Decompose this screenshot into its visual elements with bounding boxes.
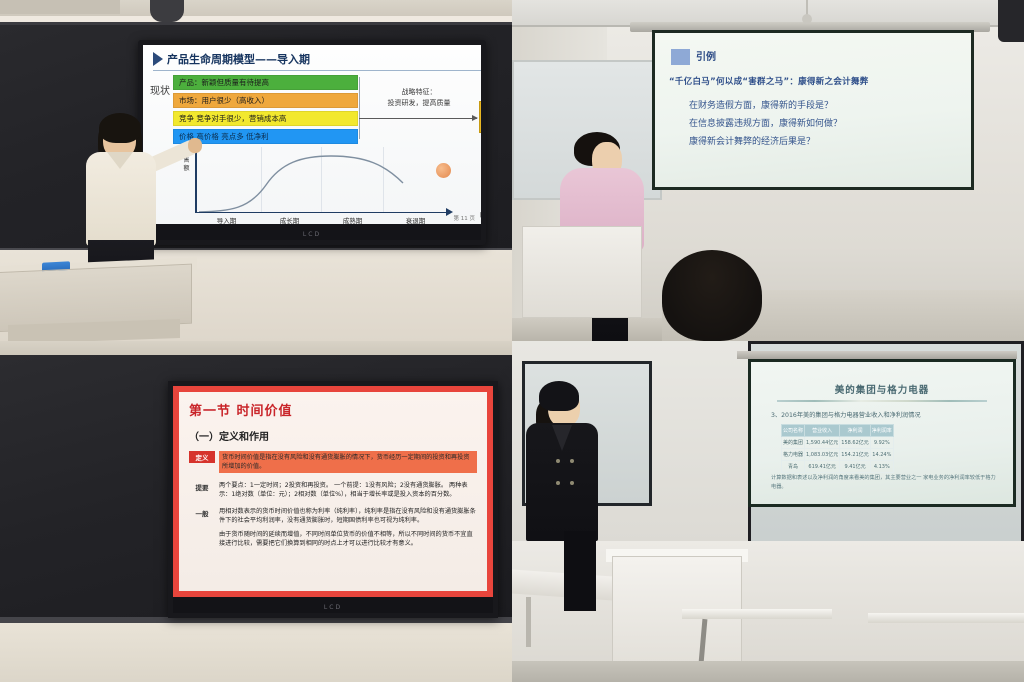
slide-heading: 第一节 时间价值 [189,400,477,419]
slide-time-value: 第一节 时间价值 （一）定义和作用 定义 货币时间价值是指在没有风险和没有通货膨… [173,386,493,597]
slide-page-number: 第 11 页 [454,214,476,222]
lifecycle-chart: 销售额 时间 导入期 成长期 成熟期 衰退期 [171,145,471,223]
col-revenue: 营业收入 [805,425,840,437]
cell-company: 美的集团 [782,437,805,449]
cell-revenue: 619.41亿元 [805,461,840,473]
coat-button-2 [570,459,574,463]
slide-footnote: 计算数据和表述以及净利润的角度来看美的集团，其主要营业之一 家电业务的净利润率较… [771,474,997,492]
cell-company: 青岛 [782,461,805,473]
table-row: 格力电器 1,083.03亿元 154.21亿元 14.24% [782,449,894,461]
bar-market: 市场：用户很少（高收入） [173,93,358,108]
strategy-feature: 战略特征： 投资研发，提高质量 [371,87,467,109]
coat-button-4 [570,481,574,485]
display-brand-badge: LCD [303,231,321,238]
title-badge-icon [671,49,690,65]
classroom-display: 第一节 时间价值 （一）定义和作用 定义 货币时间价值是指在没有风险和没有通货膨… [168,381,498,618]
general-row: 一般 用相对数表示的货币时间价值也称为利率（纯利率），纯利率是指在没有风险和没有… [189,507,477,548]
display-brand-badge: LCD [324,604,342,611]
slide-midea-gree: 美的集团与格力电器 3、2016年美的集团与格力电器营业收入和净利润情况 公司名… [751,362,1013,504]
floor [512,661,1024,682]
laser-pointer-dot-icon [436,163,451,178]
cell-margin: 4.13% [870,461,893,473]
strategy-feature-text: 投资研发，提高质量 [371,98,467,109]
general-key: 一般 [189,507,215,519]
screen-knob-icon [802,14,812,24]
cell-profit: 158.62亿元 [840,437,871,449]
summary-key: 提要 [189,481,215,493]
question-1: 在财务造假方面，康得新的手段是？ [689,97,961,115]
teacher-hat [539,381,579,411]
strategy-goal-box: 战略目标： 扩大市场份额 [479,101,481,133]
cell-revenue: 1,590.44亿元 [805,437,840,449]
ceiling-speaker-icon [150,0,184,22]
slide-subtitle: “千亿白马”何以成“害群之马”：康得新之会计舞弊 [669,75,959,87]
x-axis [195,212,447,214]
question-3: 康得新会计舞弊的经济后果是？ [689,133,961,151]
slide-subheading: （一）定义和作用 [189,428,477,443]
stage-growth: 成长期 [258,215,321,224]
connector-arrow-icon [359,118,477,119]
slide-header: 产品生命周期模型——导入期 [153,51,310,67]
strategy-feature-label: 战略特征： [371,87,467,98]
slide-lead-text: 3、2016年美的集团与格力电器营业收入和净利润情况 [771,410,921,419]
panel-top-right: 引例 “千亿白马”何以成“害群之马”：康得新之会计舞弊 在财务造假方面，康得新的… [512,0,1024,341]
coat-button-3 [556,481,560,485]
stage-maturity: 成熟期 [321,215,384,224]
factor-bars: 产品：新颖但质量有待提高 市场：用户很少（高收入） 竞争 竞争对手很少，营销成本… [173,75,358,147]
title-divider [153,70,481,71]
cell-company: 格力电器 [782,449,805,461]
col-company: 公司名称 [782,425,805,437]
video-grid-4up: 产品生命周期模型——导入期 现状 产品：新颖但质量有待提高 市场：用户很少（高收… [0,0,1024,682]
student-desk-1 [682,609,832,619]
projection-screen-rail [737,351,1017,359]
panel-bottom-right: 美的集团与格力电器 3、2016年美的集团与格力电器营业收入和净利润情况 公司名… [512,341,1024,682]
teacher-hand [188,138,202,153]
triangle-bullet-icon [153,52,163,66]
summary-row: 提要 两个要点：1一定时间；2投资和再投资。 一个前提：1没有风险；2没有通货膨… [189,481,477,499]
cell-profit: 154.21亿元 [840,449,871,461]
ceiling-duct [0,0,120,14]
coat-button-1 [556,459,560,463]
table-header-row: 公司名称 营业收入 净利润 净利润率 [782,425,894,437]
slide-product-lifecycle: 产品生命周期模型——导入期 现状 产品：新颖但质量有待提高 市场：用户很少（高收… [143,45,481,224]
cell-margin: 14.24% [870,449,893,461]
definition-key: 定义 [189,451,215,463]
question-list: 在财务造假方面，康得新的手段是？ 在信息披露违规方面，康得新如何做？ 康得新会计… [689,97,961,151]
stage-introduction: 导入期 [195,215,258,224]
slide-title: 美的集团与格力电器 [751,382,1013,396]
x-axis-label: 时间 [480,209,481,219]
table-row: 青岛 619.41亿元 9.41亿元 4.13% [782,461,894,473]
table-row: 美的集团 1,590.44亿元 158.62亿元 9.92% [782,437,894,449]
financial-table: 公司名称 营业收入 净利润 净利润率 美的集团 1,590.44亿元 158.6… [781,424,894,473]
col-profit: 净利润 [840,425,871,437]
connector-vertical [359,77,360,139]
stage-decline: 衰退期 [384,215,447,224]
bar-competition: 竞争 竞争对手很少，营销成本高 [173,111,358,126]
definition-row: 定义 货币时间价值是指在没有风险和没有通货膨胀的情况下，货币经历一定期间的投资和… [189,451,477,473]
stage-ticks: 导入期 成长期 成熟期 衰退期 [195,215,447,224]
projection-screen: 美的集团与格力电器 3、2016年美的集团与格力电器营业收入和净利润情况 公司名… [748,359,1016,507]
student-desk-2 [868,613,1024,623]
y-axis [195,149,197,213]
cell-revenue: 1,083.03亿元 [805,449,840,461]
question-2: 在信息披露违规方面，康得新如何做？ [689,115,961,133]
general-text: 用相对数表示的货币时间价值也称为利率（纯利率），纯利率是指在没有风险和没有通货膨… [219,507,477,525]
slide-content: 第一节 时间价值 （一）定义和作用 定义 货币时间价值是指在没有风险和没有通货膨… [179,392,487,591]
slide-title: 引例 [696,48,716,63]
panel-bottom-left: 第一节 时间价值 （一）定义和作用 定义 货币时间价值是指在没有风险和没有通货膨… [0,341,512,682]
general-text-2: 由于货币随时间的延续而增值，不同时间单位货币的价值不相等，所以不同时间的货币不宜… [219,530,477,548]
slide-title: 产品生命周期模型——导入期 [167,51,310,67]
summary-text: 两个要点：1一定时间；2投资和再投资。 一个前提：1没有风险；2没有通货膨胀。 … [219,481,477,499]
teacher-hair-top [99,113,141,143]
teacher-skirt [564,531,596,611]
ceiling-speaker-icon [998,0,1024,42]
cell-profit: 9.41亿元 [840,461,871,473]
lower-wall [0,623,512,682]
student-head [662,250,762,341]
definition-text: 货币时间价值是指在没有风险和没有通货膨胀的情况下，货币经历一定期间的投资和再投资… [219,451,477,473]
projection-screen: 引例 “千亿白马”何以成“害群之马”：康得新之会计舞弊 在财务造假方面，康得新的… [652,30,974,190]
cell-margin: 9.92% [870,437,893,449]
panel-top-left: 产品生命周期模型——导入期 现状 产品：新颖但质量有待提高 市场：用户很少（高收… [0,0,512,341]
title-divider [777,400,987,402]
col-margin: 净利润率 [870,425,893,437]
slide-intro-case: 引例 “千亿白马”何以成“害群之马”：康得新之会计舞弊 在财务造假方面，康得新的… [655,33,971,187]
podium [522,226,642,318]
bar-product: 产品：新颖但质量有待提高 [173,75,358,90]
state-label: 现状 [149,85,171,98]
side-desk-leg [526,597,531,647]
